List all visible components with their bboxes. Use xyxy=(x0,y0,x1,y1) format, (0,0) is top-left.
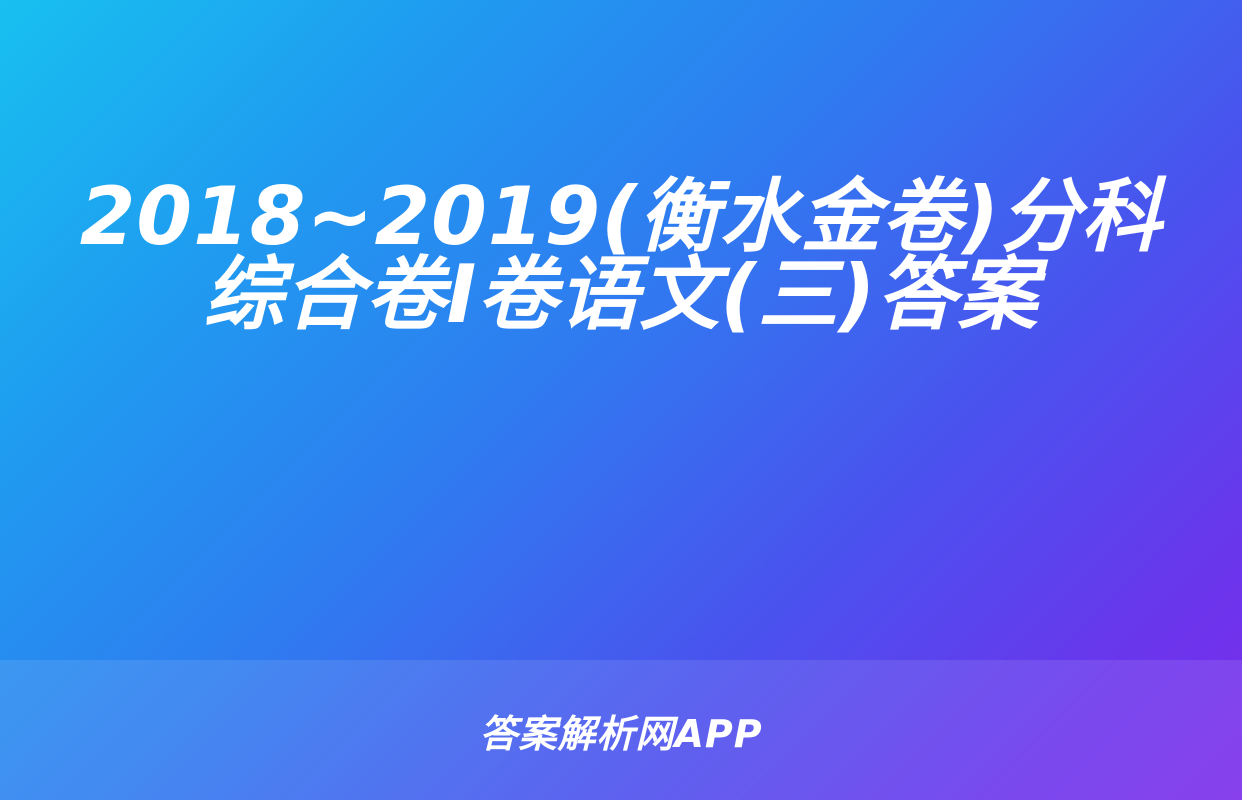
page-title: 2018~2019(衡水金卷)分科综合卷I卷语文(三)答案 xyxy=(61,178,1181,334)
footer-band: 答案解析网APP xyxy=(0,660,1242,800)
title-area: 2018~2019(衡水金卷)分科综合卷I卷语文(三)答案 xyxy=(61,178,1181,334)
app-name-label: 答案解析网APP xyxy=(479,703,762,758)
promo-banner: 2018~2019(衡水金卷)分科综合卷I卷语文(三)答案 答案解析网APP xyxy=(0,0,1242,800)
